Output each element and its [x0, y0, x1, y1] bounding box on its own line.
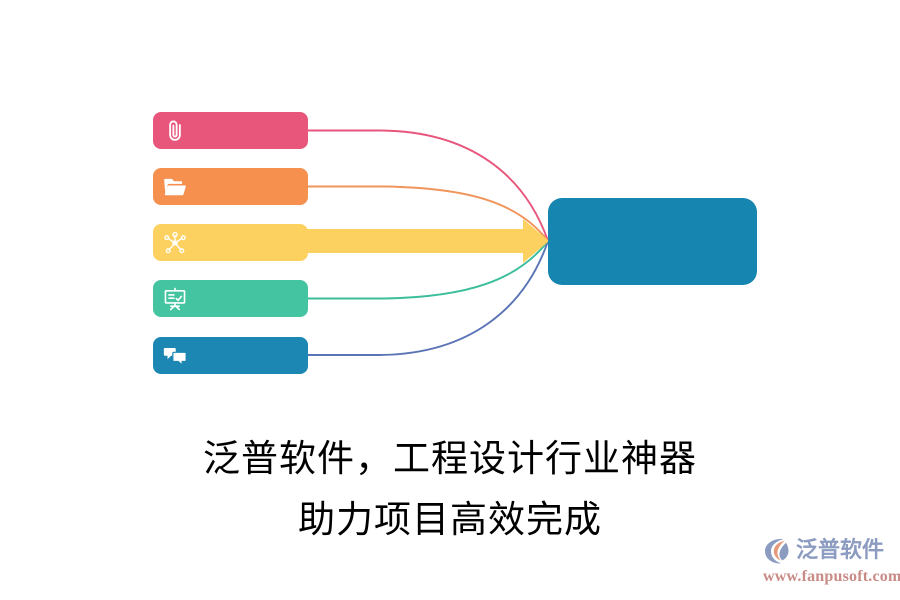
- presentation-board-icon: [162, 286, 188, 312]
- brand-logo[interactable]: 泛普软件 www.fanpusoft.com: [762, 536, 894, 592]
- network-hub-icon: [162, 230, 188, 256]
- headline-line-1: 泛普软件，工程设计行业神器: [0, 428, 900, 482]
- fanpu-logo-mark-icon: [762, 536, 792, 566]
- logo-url: www.fanpusoft.com: [763, 568, 900, 586]
- feature-bar-documents[interactable]: [153, 168, 308, 205]
- feature-bar-attachment[interactable]: [153, 112, 308, 149]
- logo-row: 泛普软件: [762, 536, 884, 566]
- hub-node[interactable]: [548, 198, 757, 285]
- connector-collaboration-arrow: [300, 219, 549, 263]
- feature-bar-presentation[interactable]: [153, 280, 308, 317]
- chat-bubbles-icon: [162, 343, 188, 369]
- slide-canvas: 泛普软件，工程设计行业神器 助力项目高效完成 泛普软件 www.fanpusof…: [0, 0, 900, 600]
- logo-wordmark: 泛普软件: [796, 540, 884, 562]
- open-folder-icon: [162, 174, 188, 200]
- feature-bar-collaboration[interactable]: [153, 224, 308, 261]
- feature-bar-messaging[interactable]: [153, 337, 308, 374]
- paperclip-icon: [162, 118, 188, 144]
- headline-line-2: 助力项目高效完成: [0, 489, 900, 543]
